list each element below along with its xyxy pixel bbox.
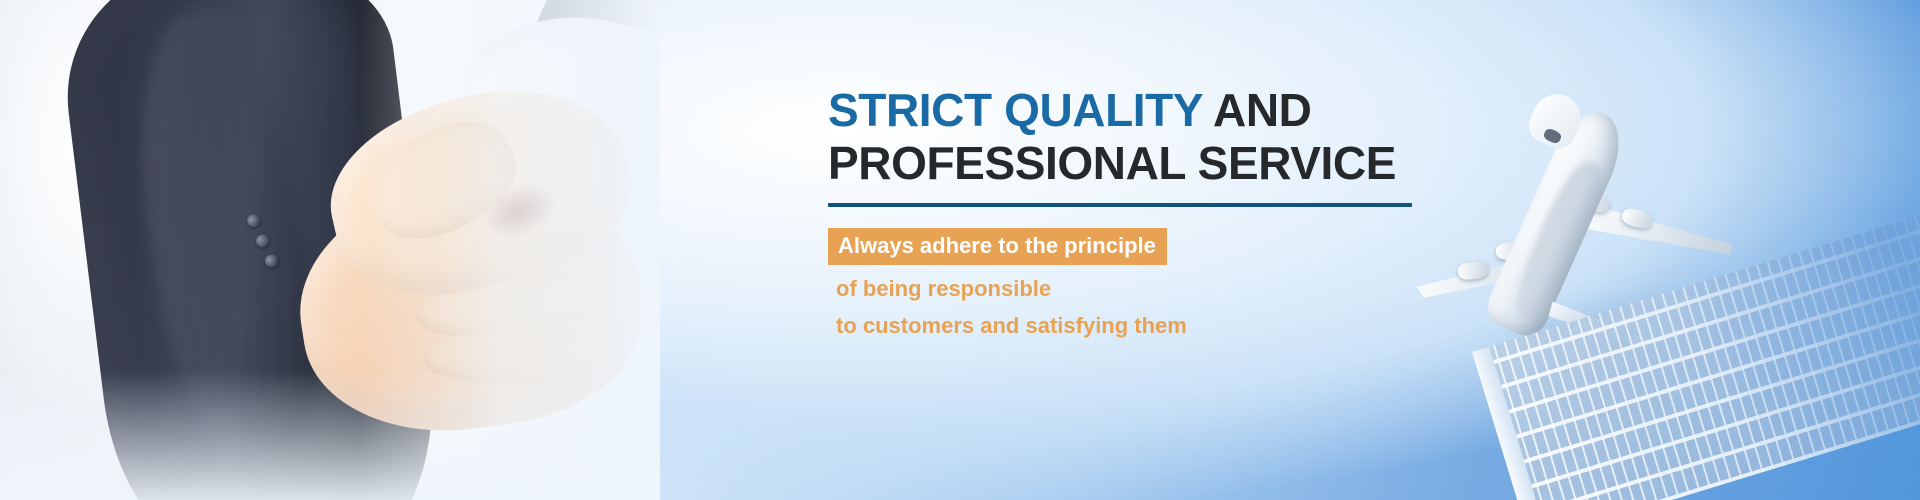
subtitle-group: Always adhere to the principle of being … xyxy=(828,228,1528,341)
headline-plain-text: AND xyxy=(1202,84,1311,136)
subtitle-line-2: of being responsible xyxy=(828,265,1528,304)
banner-content: STRICT QUALITY AND PROFESSIONAL SERVICE … xyxy=(828,0,1528,500)
promotional-banner: STRICT QUALITY AND PROFESSIONAL SERVICE … xyxy=(0,0,1920,500)
headline-accent-text: STRICT QUALITY xyxy=(828,84,1202,136)
headline-group: STRICT QUALITY AND PROFESSIONAL SERVICE xyxy=(828,84,1528,190)
subtitle-line-1-highlighted: Always adhere to the principle xyxy=(828,228,1167,265)
headline-line-1: STRICT QUALITY AND xyxy=(828,84,1528,137)
photo-bottom-fade xyxy=(0,370,660,500)
subtitle-line-3: to customers and satisfying them xyxy=(828,304,1528,341)
handshake-photo xyxy=(0,0,660,500)
divider-rule xyxy=(828,203,1412,207)
headline-line-2: PROFESSIONAL SERVICE xyxy=(828,137,1528,190)
